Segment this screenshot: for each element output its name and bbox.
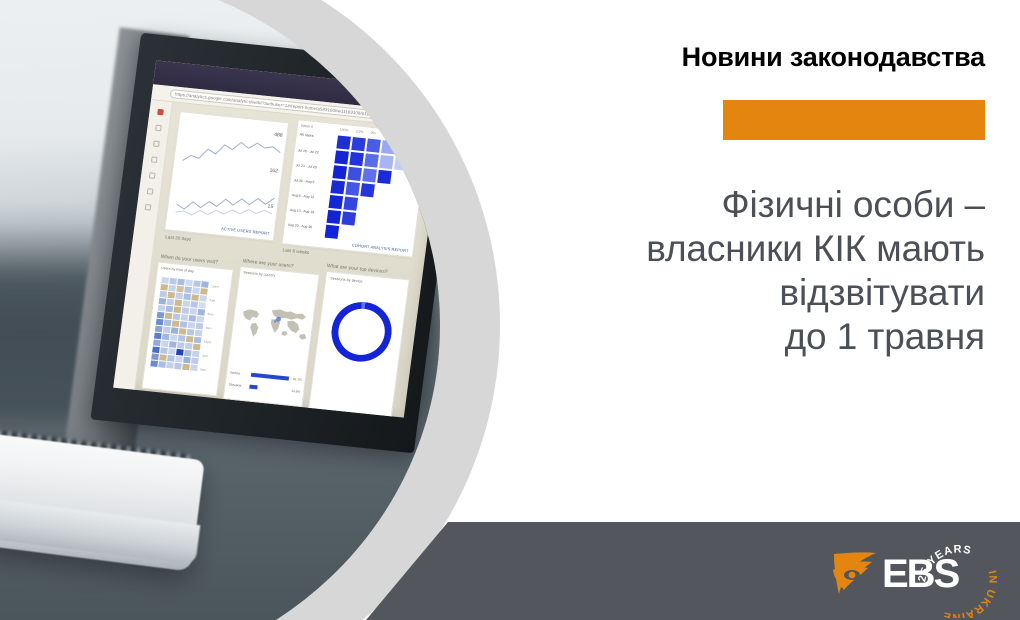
- cohort-cell: [327, 210, 342, 224]
- cohort-cell: [325, 225, 340, 239]
- slide-canvas: https://analytics.google.com/analytics/w…: [0, 0, 1020, 620]
- active-users-metric-2: 162: [269, 168, 278, 175]
- headline-line-2: власники КІК мають: [565, 227, 985, 271]
- anniversary-badge: 25 YEARS IN UKRAINE: [918, 536, 1000, 618]
- active-users-sparkline-1: [175, 124, 289, 183]
- world-map-graphic: [231, 289, 317, 358]
- active-users-metric-3: 15: [267, 204, 273, 211]
- cohort-cell: [366, 139, 381, 153]
- country-bar-fill-0: [251, 373, 289, 381]
- svg-text:6pm: 6pm: [200, 367, 207, 372]
- country-bar-label-1: Slovakia: [228, 382, 241, 387]
- users-location-subtitle: Sessions by country: [243, 270, 276, 277]
- top-devices-subtitle: Sessions by device: [330, 276, 363, 283]
- cohort-cell: [360, 183, 375, 197]
- panel-cohort-analysis: Week 0 All users Jul 16 - Jul 22 Jul 23 …: [281, 119, 429, 257]
- cohort-cell: [347, 167, 362, 181]
- cohort-cell: [334, 150, 349, 164]
- laptop-screen: https://analytics.google.com/analytics/w…: [113, 60, 440, 417]
- cohort-cell: [381, 140, 396, 154]
- active-users-metric-1: 488: [274, 132, 283, 139]
- svg-text:3am: 3am: [209, 298, 216, 303]
- active-users-sparkline-2: [168, 174, 282, 233]
- ebs-logo: EBS 25 YEARS IN UKRAINE: [832, 536, 992, 602]
- cohort-cell: [349, 152, 364, 166]
- cohort-cell: [377, 170, 392, 184]
- cohort-cell: [336, 135, 351, 149]
- users-visit-subtitle: Users by time of day: [161, 266, 194, 273]
- cohort-col-header-0: Week 0: [301, 124, 314, 129]
- sidebar-icon-admin: [145, 204, 152, 211]
- svg-text:IN UKRAINE: IN UKRAINE: [941, 570, 998, 618]
- panel-sessions-by-country: Sessions by country: [223, 266, 320, 407]
- cohort-value-3: 1.4%: [385, 132, 393, 137]
- device-donut-chart: [328, 299, 396, 365]
- sidebar-icon-acquisition: [151, 156, 158, 163]
- accent-bar: [723, 100, 985, 140]
- sidebar-icon-conversions: [147, 188, 154, 195]
- svg-text:9am: 9am: [206, 326, 213, 331]
- badge-text-white: 25 YEARS: [918, 543, 973, 583]
- cohort-value-2: 2%: [370, 131, 375, 135]
- sidebar-icon-home: [157, 109, 164, 116]
- cohort-row-label-0: All users: [300, 133, 314, 138]
- headline-line-4: до 1 травня: [565, 315, 985, 359]
- laptop-device: https://analytics.google.com/analytics/w…: [0, 0, 440, 620]
- cohort-value-4: 1.1%: [400, 134, 408, 139]
- cohort-cell: [345, 182, 360, 196]
- cohort-row-label-5: Aug 13 - Aug 19: [290, 208, 315, 214]
- country-bar-value-0: 82.1%: [293, 377, 303, 382]
- cohort-cell: [396, 142, 411, 156]
- page-kicker: Новини законодавства: [682, 42, 985, 73]
- page-title: Фізичні особи – власники КІК мають відзв…: [565, 183, 985, 359]
- anniversary-badge-arc: 25 YEARS IN UKRAINE: [918, 536, 1000, 618]
- cohort-cell: [341, 211, 356, 225]
- cohort-cell: [379, 155, 394, 169]
- ebs-leaf-icon: [832, 550, 884, 596]
- cohort-cell: [330, 180, 345, 194]
- svg-text:25 YEARS: 25 YEARS: [918, 543, 973, 583]
- sidebar-icon-behavior: [149, 172, 156, 179]
- active-users-footer: Last 30 days: [165, 234, 192, 242]
- svg-text:6am: 6am: [207, 312, 214, 317]
- cohort-value-0: 100%: [340, 128, 349, 133]
- cohort-cell: [343, 196, 358, 210]
- cohort-cell: [362, 168, 377, 182]
- cohort-cell: [411, 143, 426, 157]
- cohort-cell: [351, 137, 366, 151]
- panel-users-by-time: Users by time of day: [141, 262, 233, 397]
- cohort-cell: [332, 165, 347, 179]
- hero-photo: https://analytics.google.com/analytics/w…: [0, 0, 440, 620]
- cohort-row-label-2: Jul 23 - Jul 29: [295, 163, 317, 169]
- time-of-day-heatmap: 12am3am6am 9am12pm3pm6pm: [144, 275, 232, 394]
- sidebar-icon-realtime: [155, 125, 162, 132]
- headline-line-1: Фізичні особи –: [565, 183, 985, 227]
- headline-line-3: відзвітувати: [565, 271, 985, 315]
- cohort-row-label-6: Aug 20 - Aug 26: [288, 223, 313, 229]
- cohort-footer: Last 6 weeks: [282, 247, 309, 255]
- svg-text:12pm: 12pm: [204, 340, 212, 345]
- cohort-value-5: 1.7%: [415, 135, 423, 140]
- cohort-cell: [328, 195, 343, 209]
- svg-text:12am: 12am: [211, 284, 219, 289]
- panel-sessions-by-device: Sessions by device: [308, 271, 410, 418]
- country-bar-value-1: 14.8%: [291, 389, 301, 394]
- cohort-row-label-4: Aug 6 - Aug 12: [292, 193, 315, 199]
- cohort-cell: [394, 156, 409, 170]
- cohort-row-label-3: Jul 30 - Aug 5: [294, 178, 315, 184]
- svg-text:3pm: 3pm: [202, 354, 209, 359]
- cohort-report-link: COHORT ANALYSIS REPORT: [352, 242, 409, 253]
- sidebar-icon-audience: [153, 141, 160, 148]
- country-bar-label-0: Serbia: [230, 371, 240, 376]
- cohort-cell: [364, 153, 379, 167]
- panel-active-users: 488 162 15 ACTIVE USERS REPORT: [164, 111, 289, 241]
- country-bar-fill-1: [249, 385, 257, 390]
- cohort-value-1: 3.9%: [355, 129, 363, 134]
- badge-text-orange: IN UKRAINE: [941, 570, 998, 618]
- cohort-row-label-1: Jul 16 - Jul 22: [297, 148, 319, 154]
